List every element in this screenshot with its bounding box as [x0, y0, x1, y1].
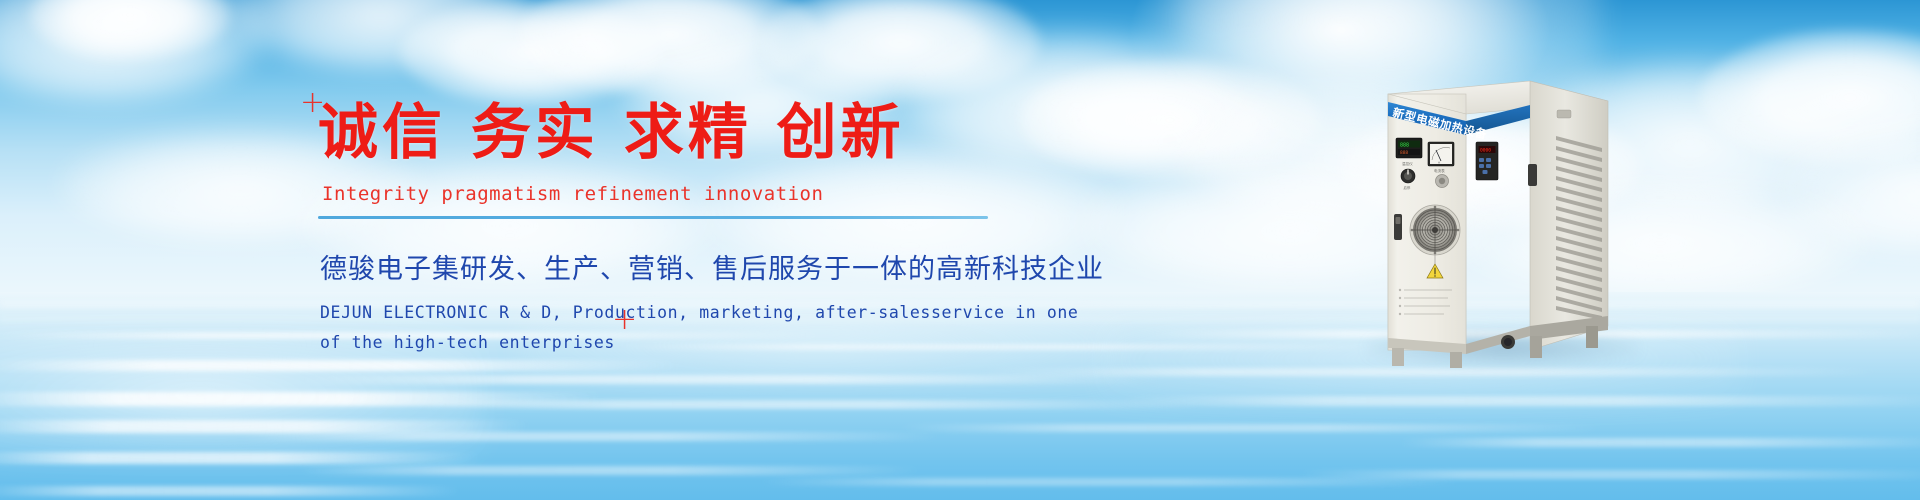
plus-decoration-top: +: [300, 88, 325, 118]
description-english-line2: of the high-tech enterprises: [320, 333, 1018, 352]
headline-english: Integrity pragmatism refinement innovati…: [322, 183, 1018, 205]
description-english-line1: DEJUN ELECTRONIC R & D, Production, mark…: [320, 303, 1018, 322]
knob-caption: 启停: [1404, 185, 1411, 190]
description-chinese: 德骏电子集研发、生产、营销、售后服务于一体的高新科技企业: [320, 247, 1018, 286]
machine-side-grille: [1557, 110, 1571, 118]
machine-leg: [1530, 336, 1542, 358]
digital-controller-caption: 温控仪: [1402, 161, 1413, 166]
analog-meter-caption: 电流表: [1434, 168, 1445, 173]
machine-base-side: [1466, 326, 1530, 354]
machine-leg: [1392, 348, 1404, 366]
fan-hub: [1432, 227, 1438, 233]
keypad-display-value: 0000: [1480, 148, 1491, 154]
machine-leg: [1586, 326, 1598, 348]
digital-controller-subvalue: 888: [1400, 150, 1408, 156]
digital-controller-value: 888: [1400, 143, 1409, 149]
headline-chinese: 诚信 务实 求精 创新: [318, 100, 1018, 167]
product-machine-image: 新型电磁加热设备 888: [1380, 58, 1620, 368]
machine-leg: [1450, 352, 1462, 368]
plus-decoration-bottom: +: [612, 305, 637, 335]
divider-line: [318, 216, 988, 219]
banner-text-block: 诚信 务实 求精 创新 Integrity pragmatism refinem…: [318, 100, 1018, 352]
machine-side-handle: [1528, 164, 1537, 186]
promo-banner: + + 诚信 务实 求精 创新 Integrity pragmatism ref…: [0, 0, 1920, 500]
